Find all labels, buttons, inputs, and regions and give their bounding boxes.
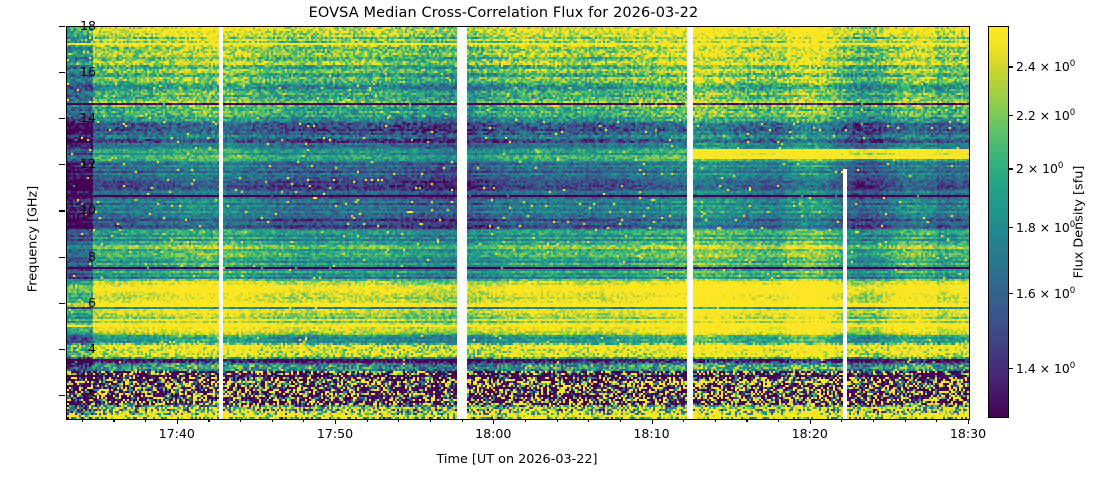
x-tick-minor (208, 419, 209, 422)
x-tick-minor (398, 419, 399, 422)
y-tick-label: 14 (56, 112, 96, 124)
x-tick-minor (367, 419, 368, 422)
colorbar-tick-mark (1009, 227, 1013, 228)
x-tick-minor (936, 419, 937, 422)
colorbar-tick-mark (1009, 168, 1013, 169)
x-tick-minor (82, 419, 83, 422)
x-tick-label: 18:20 (775, 426, 845, 441)
y-tick-label: 18 (56, 20, 96, 32)
x-tick-label: 18:30 (933, 426, 1003, 441)
x-tick-minor (873, 419, 874, 422)
x-tick-major (335, 419, 336, 424)
colorbar-tick-label: 2.2 × 100 (1016, 108, 1075, 123)
colorbar-tick-mark (1009, 66, 1013, 67)
y-tick-label: 8 (56, 251, 96, 263)
x-tick-minor (525, 419, 526, 422)
y-tick-label: 10 (56, 204, 96, 216)
x-tick-minor (113, 419, 114, 422)
x-tick-minor (462, 419, 463, 422)
colorbar-tick-mark (1009, 368, 1013, 369)
x-tick-label: 17:40 (142, 426, 212, 441)
x-tick-minor (272, 419, 273, 422)
y-tick-label: 2 (56, 389, 96, 401)
x-tick-minor (746, 419, 747, 422)
x-tick-minor (715, 419, 716, 422)
colorbar-tick-label: 1.6 × 100 (1016, 286, 1075, 301)
spectrogram-plot[interactable] (66, 26, 970, 420)
dynamic-spectrum-figure: EOVSA Median Cross-Correlation Flux for … (0, 0, 1107, 477)
x-tick-major (493, 419, 494, 424)
x-tick-minor (240, 419, 241, 422)
colorbar-tick-mark (1009, 293, 1013, 294)
y-tick-label: 12 (56, 158, 96, 170)
x-tick-label: 17:50 (300, 426, 370, 441)
x-tick-major (968, 419, 969, 424)
x-tick-minor (905, 419, 906, 422)
x-tick-minor (588, 419, 589, 422)
x-tick-minor (557, 419, 558, 422)
x-tick-major (177, 419, 178, 424)
x-tick-label: 18:00 (458, 426, 528, 441)
y-tick-label: 4 (56, 343, 96, 355)
colorbar[interactable]: 1.4 × 1001.6 × 1001.8 × 1002 × 1002.2 × … (988, 26, 1009, 418)
x-axis-label: Time [UT on 2026-03-22] (66, 452, 968, 467)
colorbar-tick-label: 2 × 100 (1016, 161, 1063, 176)
x-tick-minor (303, 419, 304, 422)
colorbar-gradient (988, 26, 1009, 418)
y-tick-label: 16 (56, 66, 96, 78)
x-tick-minor (430, 419, 431, 422)
x-tick-minor (778, 419, 779, 422)
colorbar-tick-mark (1009, 115, 1013, 116)
x-tick-label: 18:10 (617, 426, 687, 441)
y-axis-label: Frequency [GHz] (26, 185, 41, 291)
colorbar-tick-label: 2.4 × 100 (1016, 59, 1075, 74)
page-title: EOVSA Median Cross-Correlation Flux for … (0, 5, 1007, 21)
colorbar-tick-label: 1.4 × 100 (1016, 361, 1075, 376)
spectrogram-image (67, 27, 969, 419)
x-tick-major (810, 419, 811, 424)
x-tick-minor (620, 419, 621, 422)
x-tick-minor (683, 419, 684, 422)
x-tick-major (652, 419, 653, 424)
y-tick-label: 6 (56, 297, 96, 309)
x-tick-minor (145, 419, 146, 422)
x-tick-minor (841, 419, 842, 422)
colorbar-tick-label: 1.8 × 100 (1016, 220, 1075, 235)
colorbar-label: Flux Density [sfu] (1072, 166, 1087, 279)
